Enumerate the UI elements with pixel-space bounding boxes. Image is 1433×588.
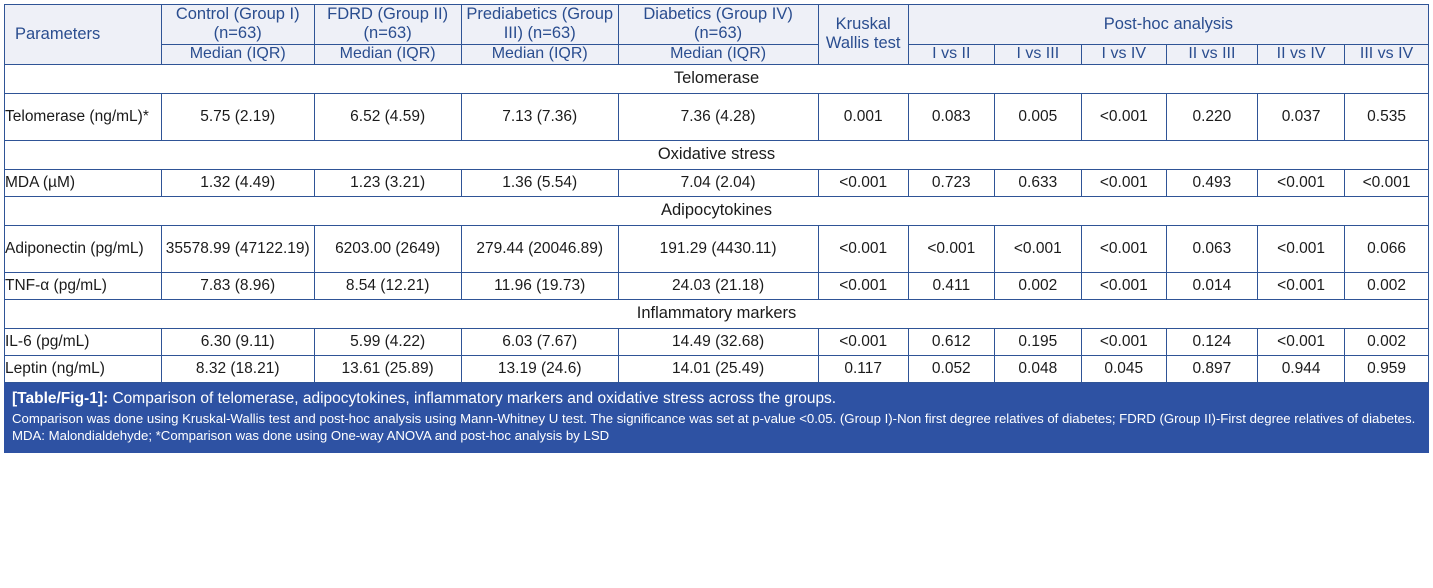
row-parameter-leptin: Leptin (ng/mL)	[5, 355, 162, 382]
cell-kruskal: <0.001	[818, 225, 908, 272]
cell-diabetics: 7.04 (2.04)	[618, 169, 818, 196]
table-header: Parameters Control (Group I) (n=63) FDRD…	[5, 5, 1429, 65]
cell-posthoc-iii-vs-iv: 0.959	[1345, 355, 1429, 382]
header-posthoc-i-vs-ii: I vs II	[908, 44, 994, 64]
cell-posthoc-ii-vs-iii: 0.124	[1166, 328, 1257, 355]
cell-posthoc-i-vs-iii: 0.048	[994, 355, 1081, 382]
section-title-inflammatory-markers: Inflammatory markers	[5, 299, 1429, 328]
cell-kruskal: <0.001	[818, 272, 908, 299]
header-group-fdrd: FDRD (Group II) (n=63)	[314, 5, 461, 45]
section-title-adipocytokines: Adipocytokines	[5, 196, 1429, 225]
cell-prediabetics: 279.44 (20046.89)	[461, 225, 618, 272]
cell-posthoc-i-vs-ii: 0.083	[908, 93, 994, 140]
cell-prediabetics: 7.13 (7.36)	[461, 93, 618, 140]
cell-fdrd: 8.54 (12.21)	[314, 272, 461, 299]
cell-posthoc-i-vs-iii: 0.005	[994, 93, 1081, 140]
cell-kruskal: <0.001	[818, 328, 908, 355]
cell-posthoc-ii-vs-iv: <0.001	[1258, 272, 1345, 299]
cell-posthoc-i-vs-iii: 0.195	[994, 328, 1081, 355]
cell-diabetics: 7.36 (4.28)	[618, 93, 818, 140]
cell-prediabetics: 1.36 (5.54)	[461, 169, 618, 196]
cell-posthoc-i-vs-ii: 0.411	[908, 272, 994, 299]
cell-posthoc-ii-vs-iii: 0.493	[1166, 169, 1257, 196]
cell-fdrd: 6203.00 (2649)	[314, 225, 461, 272]
cell-posthoc-ii-vs-iv: 0.944	[1258, 355, 1345, 382]
header-group-prediabetics: Prediabetics (Group III) (n=63)	[461, 5, 618, 45]
section-header-row: Adipocytokines	[5, 196, 1429, 225]
cell-diabetics: 14.01 (25.49)	[618, 355, 818, 382]
cell-prediabetics: 13.19 (24.6)	[461, 355, 618, 382]
cell-control: 6.30 (9.11)	[161, 328, 314, 355]
cell-diabetics: 24.03 (21.18)	[618, 272, 818, 299]
section-title-telomerase: Telomerase	[5, 64, 1429, 93]
header-row-top: Parameters Control (Group I) (n=63) FDRD…	[5, 5, 1429, 45]
cell-posthoc-i-vs-iv: <0.001	[1081, 93, 1166, 140]
caption-title-line: [Table/Fig-1]: Comparison of telomerase,…	[12, 389, 1421, 409]
cell-posthoc-ii-vs-iv: <0.001	[1258, 225, 1345, 272]
table-row: Telomerase (ng/mL)* 5.75 (2.19) 6.52 (4.…	[5, 93, 1429, 140]
table-body: Telomerase Telomerase (ng/mL)* 5.75 (2.1…	[5, 64, 1429, 382]
cell-posthoc-iii-vs-iv: 0.066	[1345, 225, 1429, 272]
section-title-oxidative-stress: Oxidative stress	[5, 140, 1429, 169]
table-row: TNF-α (pg/mL) 7.83 (8.96) 8.54 (12.21) 1…	[5, 272, 1429, 299]
cell-posthoc-ii-vs-iv: <0.001	[1258, 328, 1345, 355]
table-row: IL-6 (pg/mL) 6.30 (9.11) 5.99 (4.22) 6.0…	[5, 328, 1429, 355]
header-posthoc-iii-vs-iv: III vs IV	[1345, 44, 1429, 64]
cell-posthoc-i-vs-iv: <0.001	[1081, 169, 1166, 196]
cell-posthoc-iii-vs-iv: 0.002	[1345, 328, 1429, 355]
table-figure-container: Parameters Control (Group I) (n=63) FDRD…	[0, 0, 1433, 588]
results-table: Parameters Control (Group I) (n=63) FDRD…	[4, 4, 1429, 383]
cell-kruskal: <0.001	[818, 169, 908, 196]
table-row: MDA (µM) 1.32 (4.49) 1.23 (3.21) 1.36 (5…	[5, 169, 1429, 196]
header-row-sub: Median (IQR) Median (IQR) Median (IQR) M…	[5, 44, 1429, 64]
header-sub-diabetics: Median (IQR)	[618, 44, 818, 64]
cell-control: 35578.99 (47122.19)	[161, 225, 314, 272]
cell-posthoc-i-vs-iv: 0.045	[1081, 355, 1166, 382]
cell-kruskal: 0.117	[818, 355, 908, 382]
cell-posthoc-i-vs-iv: <0.001	[1081, 272, 1166, 299]
cell-posthoc-i-vs-ii: 0.723	[908, 169, 994, 196]
cell-control: 5.75 (2.19)	[161, 93, 314, 140]
table-row: Leptin (ng/mL) 8.32 (18.21) 13.61 (25.89…	[5, 355, 1429, 382]
cell-control: 7.83 (8.96)	[161, 272, 314, 299]
cell-posthoc-ii-vs-iv: <0.001	[1258, 169, 1345, 196]
header-post-hoc-analysis: Post-hoc analysis	[908, 5, 1428, 45]
cell-kruskal: 0.001	[818, 93, 908, 140]
caption-tag: [Table/Fig-1]:	[12, 390, 108, 407]
cell-fdrd: 5.99 (4.22)	[314, 328, 461, 355]
cell-posthoc-i-vs-ii: 0.052	[908, 355, 994, 382]
table-row: Adiponectin (pg/mL) 35578.99 (47122.19) …	[5, 225, 1429, 272]
header-posthoc-i-vs-iii: I vs III	[994, 44, 1081, 64]
caption-title: Comparison of telomerase, adipocytokines…	[112, 390, 836, 407]
header-group-control: Control (Group I) (n=63)	[161, 5, 314, 45]
header-parameters: Parameters	[5, 5, 162, 65]
cell-posthoc-i-vs-iii: 0.633	[994, 169, 1081, 196]
header-posthoc-i-vs-iv: I vs IV	[1081, 44, 1166, 64]
row-parameter-adiponectin: Adiponectin (pg/mL)	[5, 225, 162, 272]
cell-posthoc-i-vs-iv: <0.001	[1081, 225, 1166, 272]
row-parameter-tnf-alpha: TNF-α (pg/mL)	[5, 272, 162, 299]
header-group-diabetics: Diabetics (Group IV) (n=63)	[618, 5, 818, 45]
cell-prediabetics: 6.03 (7.67)	[461, 328, 618, 355]
header-sub-fdrd: Median (IQR)	[314, 44, 461, 64]
header-sub-prediabetics: Median (IQR)	[461, 44, 618, 64]
row-parameter-mda: MDA (µM)	[5, 169, 162, 196]
cell-posthoc-iii-vs-iv: <0.001	[1345, 169, 1429, 196]
row-parameter-telomerase: Telomerase (ng/mL)*	[5, 93, 162, 140]
caption-note: Comparison was done using Kruskal-Wallis…	[12, 410, 1421, 445]
cell-diabetics: 14.49 (32.68)	[618, 328, 818, 355]
cell-diabetics: 191.29 (4430.11)	[618, 225, 818, 272]
cell-posthoc-i-vs-ii: <0.001	[908, 225, 994, 272]
section-header-row: Inflammatory markers	[5, 299, 1429, 328]
header-posthoc-ii-vs-iii: II vs III	[1166, 44, 1257, 64]
cell-prediabetics: 11.96 (19.73)	[461, 272, 618, 299]
cell-posthoc-ii-vs-iii: 0.897	[1166, 355, 1257, 382]
section-header-row: Telomerase	[5, 64, 1429, 93]
cell-posthoc-iii-vs-iv: 0.535	[1345, 93, 1429, 140]
cell-fdrd: 6.52 (4.59)	[314, 93, 461, 140]
cell-posthoc-ii-vs-iii: 0.220	[1166, 93, 1257, 140]
header-kruskal-wallis-test: Kruskal Wallis test	[818, 5, 908, 65]
header-posthoc-ii-vs-iv: II vs IV	[1258, 44, 1345, 64]
cell-posthoc-ii-vs-iii: 0.014	[1166, 272, 1257, 299]
cell-posthoc-i-vs-iii: 0.002	[994, 272, 1081, 299]
cell-posthoc-ii-vs-iv: 0.037	[1258, 93, 1345, 140]
figure-caption: [Table/Fig-1]: Comparison of telomerase,…	[4, 383, 1429, 453]
cell-control: 8.32 (18.21)	[161, 355, 314, 382]
cell-fdrd: 13.61 (25.89)	[314, 355, 461, 382]
section-header-row: Oxidative stress	[5, 140, 1429, 169]
cell-posthoc-i-vs-ii: 0.612	[908, 328, 994, 355]
cell-posthoc-ii-vs-iii: 0.063	[1166, 225, 1257, 272]
cell-posthoc-iii-vs-iv: 0.002	[1345, 272, 1429, 299]
cell-control: 1.32 (4.49)	[161, 169, 314, 196]
row-parameter-il-6: IL-6 (pg/mL)	[5, 328, 162, 355]
header-sub-control: Median (IQR)	[161, 44, 314, 64]
cell-posthoc-i-vs-iii: <0.001	[994, 225, 1081, 272]
cell-posthoc-i-vs-iv: <0.001	[1081, 328, 1166, 355]
cell-fdrd: 1.23 (3.21)	[314, 169, 461, 196]
